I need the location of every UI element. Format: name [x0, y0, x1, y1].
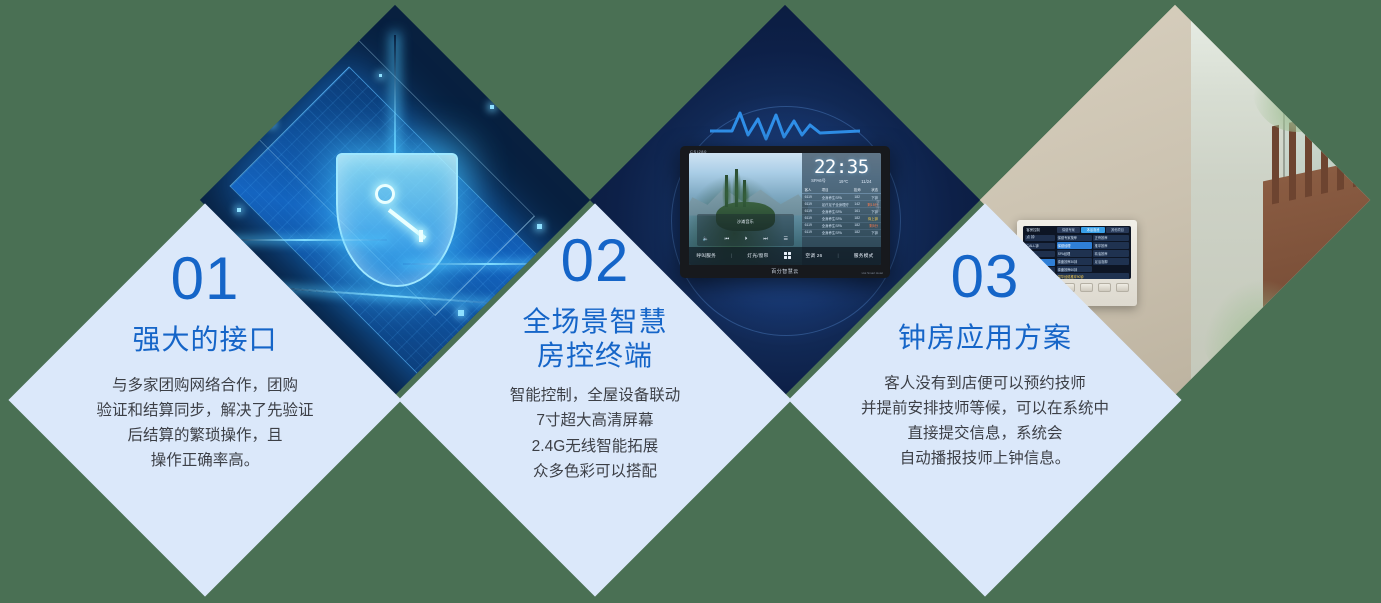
tab-health-program[interactable]: 保健专案 [1057, 227, 1081, 233]
table-row: 6119 全身养生SPA 161 下钟 [802, 208, 881, 215]
clock-meta: SPA6号 19℃ 11/24 [802, 177, 881, 187]
panel-right-pane[interactable]: 保健专案 沐浴泡池 其他项目 保健专家按摩 正骨按摩 保健经理 推拿按摩 SPA… [1055, 226, 1132, 279]
card-1-title: 强大的接口 [132, 323, 277, 357]
desc-line: 客人没有到店便可以预约技师 [861, 371, 1109, 396]
divider: | [731, 253, 733, 258]
card-2-number: 02 [561, 231, 630, 291]
spark [269, 121, 274, 126]
cell-tech: 142 [852, 202, 862, 207]
cell-guest: 6119 [805, 195, 821, 200]
cell-item: 全身养生SPA [822, 195, 851, 200]
grid-item[interactable]: 精油按摩 [1093, 250, 1129, 257]
tablet-device: CSI280 沙滩音乐 🔈 ⏮ ⏵ [680, 146, 890, 278]
taskbar-service-mode[interactable]: 服务模式 [854, 253, 874, 259]
grid-item[interactable]: 足浴泡脚 [1093, 258, 1129, 265]
taskbar-light-curtain[interactable]: 灯光/窗帘 [747, 253, 768, 259]
light-ray [222, 239, 387, 241]
desc-line: 后结算的繁琐操作，且 [96, 423, 313, 448]
spark [237, 208, 241, 212]
grid-item[interactable]: 正骨按摩 [1093, 235, 1129, 242]
taskbar-call-service[interactable]: 呼叫服务 [696, 253, 716, 259]
cell-item: 足疗足子全身理疗 [822, 202, 851, 207]
light-beam [394, 35, 396, 155]
card-3-description: 客人没有到店便可以预约技师 并提前安排技师等候，可以在系统中 直接提交信息，系统… [861, 371, 1109, 471]
panel-title: 客房控制 [1026, 227, 1040, 232]
desc-line: 并提前安排技师等候，可以在系统中 [861, 396, 1109, 421]
tab-other-items[interactable]: 其他项目 [1106, 227, 1130, 233]
device-sub-logo: Hot Smart Hotel [862, 271, 883, 275]
spark [537, 224, 542, 229]
card-3-number: 03 [951, 247, 1020, 307]
key-tooth [419, 230, 423, 242]
grid-item[interactable]: 推拿按摩 [1093, 242, 1129, 249]
desc-line: 2.4G无线智能拓展 [510, 434, 681, 459]
media-player-bar[interactable]: 沙滩音乐 🔈 ⏮ ⏵ ⏭ ☰ [697, 214, 794, 245]
service-table-header: 客人 项目 技师 状态 [802, 186, 881, 194]
date-label: 11/24 [861, 179, 871, 184]
cell-item: 全身养生SPA [822, 223, 851, 228]
desc-line: 智能控制，全屋设备联动 [510, 383, 681, 408]
grid-item[interactable]: 泰囊按摩60钟 [1057, 266, 1093, 273]
cell-tech: 182 [852, 216, 862, 221]
play-icon[interactable]: ⏵ [745, 236, 748, 242]
desc-line: 直接提交信息，系统会 [861, 421, 1109, 446]
cell-guest: 6119 [805, 216, 821, 221]
hard-key[interactable] [1116, 283, 1129, 292]
table-row: 6119 足疗足子全身理疗 142 剩15分 [802, 201, 881, 208]
cell-tech: 182 [852, 195, 862, 200]
desc-line: 7寸超大高清屏幕 [510, 408, 681, 433]
spark [490, 105, 494, 109]
tree-shape [743, 180, 746, 207]
device-logo: 百分智慧云 [680, 268, 890, 275]
grid-item-selected[interactable]: 保健经理 [1057, 242, 1093, 249]
card-2-description: 智能控制，全屋设备联动 7寸超大高清屏幕 2.4G无线智能拓展 众多色彩可以搭配 [510, 383, 681, 483]
temperature-label: 19℃ [839, 179, 848, 184]
cell-tech: 182 [852, 223, 862, 228]
table-row: 6119 全身养生SPA 182 剩5分 [802, 223, 881, 230]
spark [458, 310, 464, 316]
media-controls[interactable]: 🔈 ⏮ ⏵ ⏭ ☰ [703, 236, 788, 242]
next-icon[interactable]: ⏭ [763, 236, 768, 242]
grid-item[interactable]: SPA经理 [1057, 250, 1093, 257]
col-item: 项目 [822, 187, 851, 192]
title-line: 房控终端 [522, 339, 667, 373]
tablet-screen[interactable]: 沙滩音乐 🔈 ⏮ ⏵ ⏭ ☰ 22:35 [689, 153, 881, 265]
spark [379, 74, 382, 77]
desc-line: 众多色彩可以搭配 [510, 459, 681, 484]
menu-item-dian-zhong[interactable]: 点 钟 [1025, 235, 1054, 242]
divider: | [837, 253, 839, 258]
card-2-title: 全场景智慧 房控终端 [522, 305, 667, 373]
panel-tabs[interactable]: 保健专案 沐浴泡池 其他项目 [1057, 227, 1130, 233]
cell-tech: 161 [852, 209, 862, 214]
panel-item-grid[interactable]: 保健专家按摩 正骨按摩 保健经理 推拿按摩 SPA经理 精油按摩 泰囊按摩30钟… [1057, 235, 1130, 279]
card-3-title: 钟房应用方案 [898, 321, 1072, 355]
grid-item[interactable]: 保健专家按摩 [1057, 235, 1093, 242]
card-1-number: 01 [171, 249, 240, 309]
tab-bath-pool[interactable]: 沐浴泡池 [1081, 227, 1105, 233]
cell-guest: 6119 [805, 209, 821, 214]
pulse-wave-icon [710, 105, 860, 145]
tablet-taskbar[interactable]: 呼叫服务 | 灯光/窗帘 空调 26 | 服务模式 [689, 247, 881, 265]
apps-grid-icon[interactable] [784, 252, 791, 259]
table-row: 6119 全身养生SPA 182 下钟 [802, 194, 881, 201]
playlist-icon[interactable]: ☰ [783, 236, 787, 242]
cell-item: 全身养生SPA [822, 216, 851, 221]
media-title: 沙滩音乐 [697, 219, 794, 225]
tree-shape [735, 169, 738, 207]
cell-tech: 182 [852, 230, 862, 235]
cell-item: 全身养生SPA [822, 209, 851, 214]
col-tech: 技师 [852, 187, 862, 192]
cell-guest: 6119 [805, 230, 821, 235]
hard-key[interactable] [1080, 283, 1093, 292]
tree-shape [725, 175, 728, 206]
side-rail-label: 服务呼叫 [874, 159, 880, 253]
table-row: 6119 全身养生SPA 182 下钟 [802, 230, 881, 237]
clock-time: 22:35 [802, 153, 881, 177]
promo-banner: CSI280 沙滩音乐 🔈 ⏮ ⏵ [0, 0, 1381, 603]
volume-icon[interactable]: 🔈 [703, 236, 709, 242]
table-row: 6119 全身养生SPA 182 待上钟 [802, 215, 881, 222]
desc-line: 操作正确率高。 [96, 448, 313, 473]
desc-line: 自动播报技师上钟信息。 [861, 446, 1109, 471]
title-line: 全场景智慧 [522, 305, 667, 339]
desc-line: 与多家团购网络合作，团购 [96, 373, 313, 398]
taskbar-air-conditioner[interactable]: 空调 26 [805, 253, 822, 259]
grid-item[interactable]: 泰囊按摩30钟 [1057, 258, 1093, 265]
plant [1252, 42, 1342, 132]
card-1-description: 与多家团购网络合作，团购 验证和结算同步，解决了先验证 后结算的繁琐操作，且 操… [96, 373, 313, 473]
col-guest: 客人 [805, 187, 821, 192]
room-label: SPA6号 [811, 178, 826, 184]
prev-icon[interactable]: ⏮ [725, 236, 730, 242]
cell-guest: 6119 [805, 202, 821, 207]
cell-guest: 6119 [805, 223, 821, 228]
plant [1202, 279, 1322, 389]
wooden-railing [1263, 156, 1370, 386]
cell-item: 全身养生SPA [822, 230, 851, 235]
hard-key[interactable] [1098, 283, 1111, 292]
outdoor-area [1191, 5, 1370, 395]
grid-item-wide[interactable]: 豪华经络推拿90钟 [1057, 273, 1130, 278]
desc-line: 验证和结算同步，解决了先验证 [96, 398, 313, 423]
